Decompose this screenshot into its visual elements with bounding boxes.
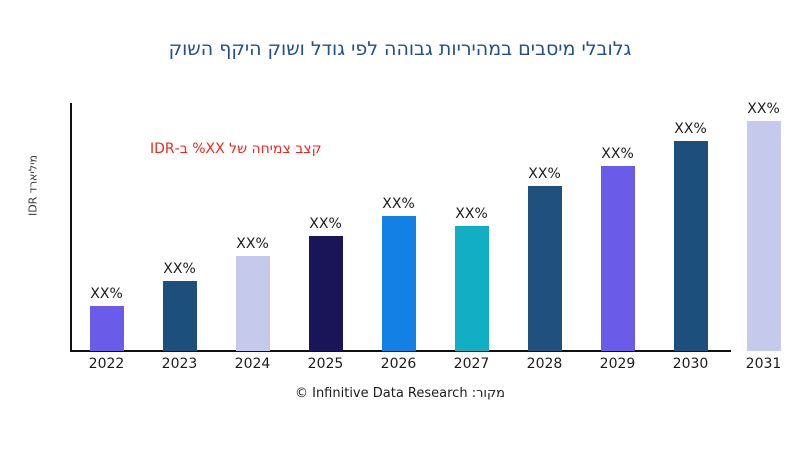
x-tick-2023: 2023 — [143, 356, 216, 372]
bar-2030[interactable] — [674, 141, 708, 351]
bar-group-2024: XX% — [236, 95, 270, 351]
bar-group-2028: XX% — [528, 95, 562, 351]
y-axis-title-wrapper: מיליארד IDR — [22, 130, 44, 250]
bar-value-label-2026: XX% — [382, 196, 414, 212]
x-tick-2027: 2027 — [435, 356, 508, 372]
x-tick-2022: 2022 — [70, 356, 143, 372]
chart-container: גלובלי מיסבים במהיריות גבוהה לפי גודל וש… — [0, 0, 800, 450]
bar-group-2027: XX% — [455, 95, 489, 351]
bar-group-2025: XX% — [309, 95, 343, 351]
bar-value-label-2028: XX% — [528, 166, 560, 182]
plot-area: XX%XX%XX%XX%XX%XX%XX%XX%XX%XX% — [70, 95, 800, 351]
bar-2027[interactable] — [455, 226, 489, 351]
bar-value-label-2022: XX% — [90, 286, 122, 302]
bar-2031[interactable] — [747, 121, 781, 351]
bar-2023[interactable] — [163, 281, 197, 351]
bar-group-2031: XX% — [747, 95, 781, 351]
source-attribution: מקור: Infinitive Data Research © — [0, 386, 800, 401]
bar-group-2022: XX% — [90, 95, 124, 351]
bar-value-label-2031: XX% — [747, 101, 779, 117]
bar-2025[interactable] — [309, 236, 343, 351]
bar-2026[interactable] — [382, 216, 416, 351]
bar-2029[interactable] — [601, 166, 635, 351]
bar-value-label-2027: XX% — [455, 206, 487, 222]
x-tick-2024: 2024 — [216, 356, 289, 372]
bar-value-label-2029: XX% — [601, 146, 633, 162]
bar-value-label-2025: XX% — [309, 216, 341, 232]
bar-2022[interactable] — [90, 306, 124, 351]
y-axis-title: מיליארד IDR — [27, 126, 40, 246]
x-axis-tick-labels: 2022202320242025202620272028202920302031 — [70, 356, 800, 378]
x-tick-2025: 2025 — [289, 356, 362, 372]
chart-title: גלובלי מיסבים במהיריות גבוהה לפי גודל וש… — [0, 38, 800, 60]
x-tick-2030: 2030 — [654, 356, 727, 372]
bar-value-label-2030: XX% — [674, 121, 706, 137]
bar-value-label-2024: XX% — [236, 236, 268, 252]
bar-group-2030: XX% — [674, 95, 708, 351]
bar-value-label-2023: XX% — [163, 261, 195, 277]
bar-group-2026: XX% — [382, 95, 416, 351]
x-tick-2031: 2031 — [727, 356, 800, 372]
bar-group-2029: XX% — [601, 95, 635, 351]
x-tick-2026: 2026 — [362, 356, 435, 372]
x-tick-2028: 2028 — [508, 356, 581, 372]
bar-2028[interactable] — [528, 186, 562, 351]
bar-2024[interactable] — [236, 256, 270, 351]
bar-group-2023: XX% — [163, 95, 197, 351]
x-tick-2029: 2029 — [581, 356, 654, 372]
